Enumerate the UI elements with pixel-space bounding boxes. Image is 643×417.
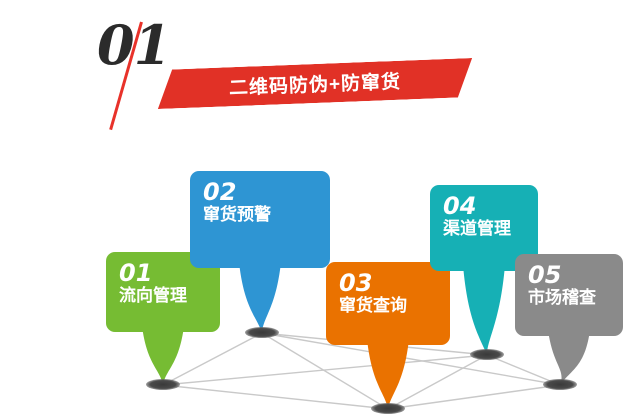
pin-label: 窜货预警	[203, 205, 317, 225]
pin-03[interactable]: 03窜货查询	[326, 262, 450, 345]
pin-number: 02	[203, 180, 317, 205]
pin-body[interactable]: 03窜货查询	[326, 262, 450, 345]
pin-body[interactable]: 05市场稽查	[515, 254, 623, 336]
connector-line	[388, 385, 560, 409]
connector-line	[163, 355, 487, 385]
pin-tail-shape	[367, 339, 409, 409]
pin-label: 市场稽查	[528, 288, 610, 308]
pin-tip-shadow	[146, 379, 180, 390]
pin-number: 05	[528, 263, 610, 288]
pin-tail-shape	[548, 330, 590, 385]
slide-canvas: 01 二维码防伪+防窜货 01流向管理02窜货预警03窜货查询04渠道管理05市…	[0, 0, 643, 417]
pin-tail-shape	[463, 265, 505, 355]
connector-line	[163, 333, 262, 385]
pin-network-diagram: 01流向管理02窜货预警03窜货查询04渠道管理05市场稽查	[0, 0, 643, 417]
connector-line	[163, 385, 388, 409]
pin-number: 03	[339, 271, 437, 296]
pin-tip-shadow	[543, 379, 577, 390]
pin-tip-shadow	[470, 349, 504, 360]
pin-02[interactable]: 02窜货预警	[190, 171, 330, 268]
pin-tail-shape	[239, 262, 281, 333]
pin-number: 04	[443, 194, 525, 219]
pin-05[interactable]: 05市场稽查	[515, 254, 623, 336]
connector-line	[388, 355, 487, 409]
pin-label: 渠道管理	[443, 219, 525, 239]
pin-tail-shape	[142, 326, 184, 385]
pin-label: 窜货查询	[339, 296, 437, 316]
pin-tip-shadow	[245, 327, 279, 338]
pin-label: 流向管理	[119, 286, 207, 306]
pin-body[interactable]: 02窜货预警	[190, 171, 330, 268]
pin-tip-shadow	[371, 403, 405, 414]
